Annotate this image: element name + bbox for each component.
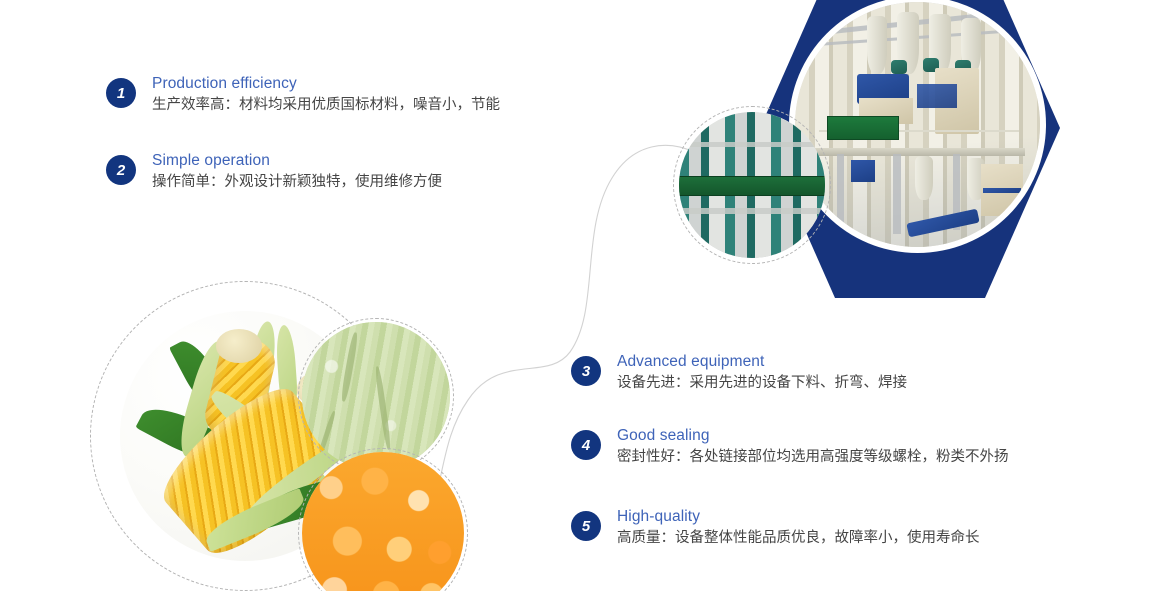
feature-item-3: 3 Advanced equipment 设备先进：采用先进的设备下料、折弯、焊… <box>571 352 907 394</box>
flour-mill-production-line-photo <box>795 2 1040 247</box>
feature-desc-2: 操作简单：外观设计新颖独特，使用维修方便 <box>152 171 442 193</box>
feature-title-1: Production efficiency <box>152 74 500 93</box>
feature-title-2: Simple operation <box>152 151 442 170</box>
feature-item-2: 2 Simple operation 操作简单：外观设计新颖独特，使用维修方便 <box>106 151 442 193</box>
feature-badge-2: 2 <box>106 155 136 185</box>
feature-text-4: Good sealing 密封性好：各处链接部位均选用高强度等级螺栓，粉类不外扬 <box>617 426 1009 468</box>
feature-text-1: Production efficiency 生产效率高：材料均采用优质国标材料，… <box>152 74 500 116</box>
feature-title-3: Advanced equipment <box>617 352 907 371</box>
feature-text-3: Advanced equipment 设备先进：采用先进的设备下料、折弯、焊接 <box>617 352 907 394</box>
feature-title-5: High-quality <box>617 507 980 526</box>
feature-badge-3: 3 <box>571 356 601 386</box>
feature-text-2: Simple operation 操作简单：外观设计新颖独特，使用维修方便 <box>152 151 442 193</box>
feature-badge-5: 5 <box>571 511 601 541</box>
feature-desc-1: 生产效率高：材料均采用优质国标材料，噪音小，节能 <box>152 94 500 116</box>
feature-badge-1: 1 <box>106 78 136 108</box>
feature-desc-5: 高质量：设备整体性能品质优良，故障率小，使用寿命长 <box>617 527 980 549</box>
feature-item-4: 4 Good sealing 密封性好：各处链接部位均选用高强度等级螺栓，粉类不… <box>571 426 1009 468</box>
feature-item-1: 1 Production efficiency 生产效率高：材料均采用优质国标材… <box>106 74 500 116</box>
mill-photo-dashed-ring <box>673 106 831 264</box>
feature-desc-3: 设备先进：采用先进的设备下料、折弯、焊接 <box>617 372 907 394</box>
feature-badge-4: 4 <box>571 430 601 460</box>
feature-desc-4: 密封性好：各处链接部位均选用高强度等级螺栓，粉类不外扬 <box>617 446 1009 468</box>
feature-title-4: Good sealing <box>617 426 1009 445</box>
feature-text-5: High-quality 高质量：设备整体性能品质优良，故障率小，使用寿命长 <box>617 507 980 549</box>
feature-highlights-page: 1 Production efficiency 生产效率高：材料均采用优质国标材… <box>0 0 1154 591</box>
feature-item-5: 5 High-quality 高质量：设备整体性能品质优良，故障率小，使用寿命长 <box>571 507 980 549</box>
